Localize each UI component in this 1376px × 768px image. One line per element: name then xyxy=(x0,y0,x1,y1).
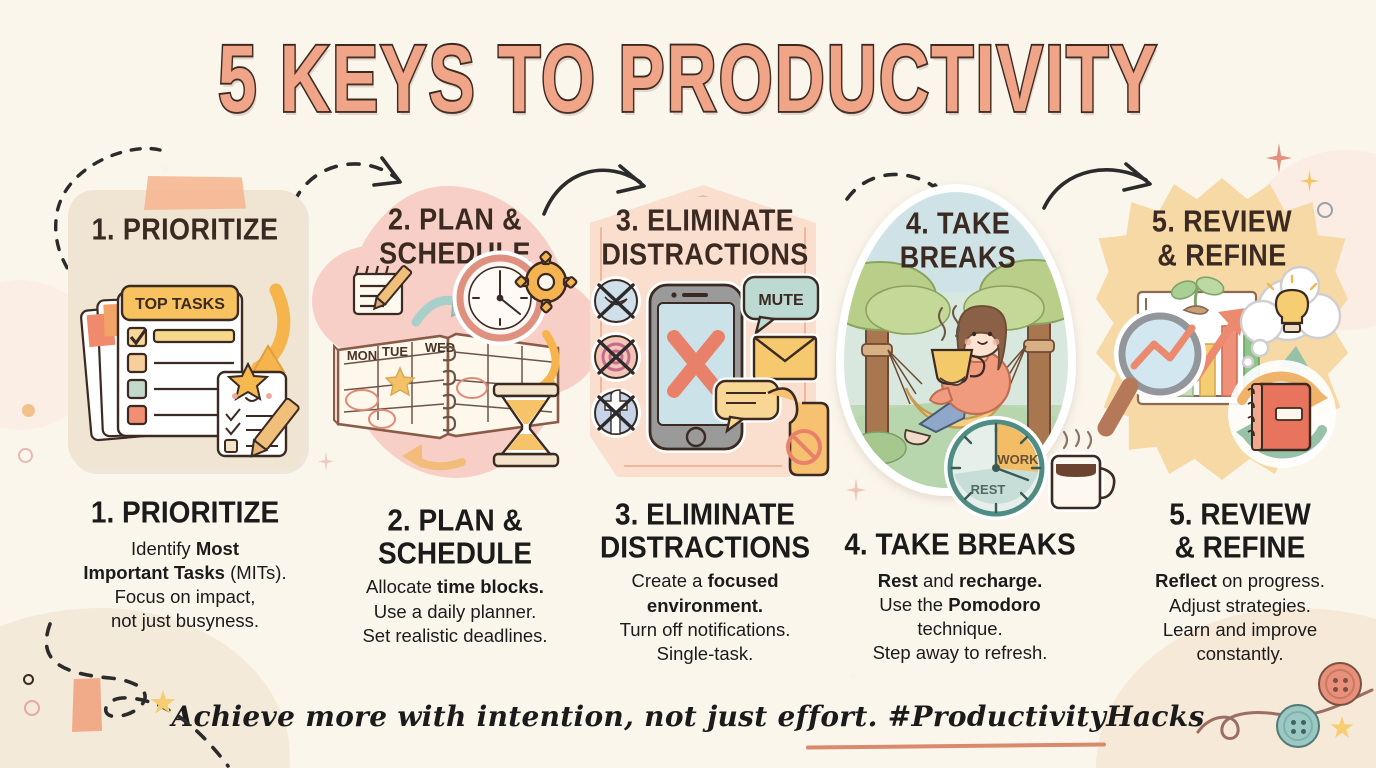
card-1-prioritize[interactable]: 1. PRIORITIZE TOP TASKS xyxy=(60,190,310,480)
card-2-illustration: MON TUE WED xyxy=(330,272,582,478)
card-5-caption-text: Reflect on progress.Adjust strategies.Le… xyxy=(1090,569,1376,665)
card-1-title-line-1: 1. PRIORITIZE xyxy=(60,212,310,246)
mute-label: MUTE xyxy=(758,292,804,309)
hashtag-underline xyxy=(806,742,1106,749)
card-1-banner-label: TOP TASKS xyxy=(135,296,225,313)
card-2-title-line-1: 2. PLAN & xyxy=(330,202,580,236)
card-1-title: 1. PRIORITIZE xyxy=(60,212,310,246)
dashed-loop-path-bottom-left xyxy=(14,620,284,768)
card-3-illustration: MUTE xyxy=(588,281,818,471)
card-4-title-line-1: 4. TAKE xyxy=(836,206,1080,240)
card-5-illustration xyxy=(1100,274,1350,474)
page-title: 5 KEYS TO PRODUCTIVITY xyxy=(218,24,1159,133)
washi-tape-card-1 xyxy=(144,176,246,210)
card-4-take-breaks[interactable]: ıl. 4. TAKE BREAKS WORK REST xyxy=(836,184,1080,504)
button-coral-bottom-right xyxy=(1318,662,1362,706)
page-title-container: 5 KEYS TO PRODUCTIVITY xyxy=(0,36,1376,121)
card-1-caption-heading: 1. PRIORITIZE xyxy=(35,496,335,529)
card-4-caption-heading: 4. TAKE BREAKS xyxy=(810,528,1110,561)
small-ring-left xyxy=(18,448,33,463)
card-1-caption: 1. PRIORITIZE Identify MostImportant Tas… xyxy=(35,496,335,633)
card-1-illustration: TOP TASKS xyxy=(70,268,310,468)
small-ring-bottom-left xyxy=(24,700,40,716)
button-teal-bottom-right xyxy=(1276,704,1320,748)
card-1-caption-text: Identify MostImportant Tasks (MITs).Focu… xyxy=(35,537,335,633)
small-dot-ring-bottom-left xyxy=(23,674,34,685)
card-5-title-line-1: 5. REVIEW xyxy=(1096,204,1348,238)
card-5-caption-heading: 5. REVIEW& REFINE xyxy=(1090,498,1376,565)
tape-strip-bottom-left xyxy=(72,678,102,732)
card-5-title: 5. REVIEW & REFINE xyxy=(1096,204,1348,273)
small-dot-left xyxy=(22,404,35,417)
footer-tagline: Achieve more with intention, not just ef… xyxy=(171,700,1204,733)
infographic-canvas: 5 KEYS TO PRODUCTIVITY 1. PRIORITIZE xyxy=(0,0,1376,768)
card-2-plan-schedule[interactable]: 2. PLAN & SCHEDULE xyxy=(330,186,580,486)
card-3-eliminate-distractions[interactable]: 3. ELIMINATE DISTRACTIONS xyxy=(590,185,820,485)
card-3-title-line-1: 3. ELIMINATE xyxy=(590,203,820,237)
pomodoro-label-rest: REST xyxy=(971,482,1006,497)
planner-label-tue: TUE xyxy=(382,344,408,359)
card-4-title: 4. TAKE BREAKS xyxy=(836,206,1080,275)
card-5-review-refine[interactable]: 5. REVIEW & REFINE xyxy=(1096,178,1356,488)
small-ring-top-right xyxy=(1317,202,1333,218)
card-5-title-line-2: & REFINE xyxy=(1096,238,1348,272)
pomodoro-label-work: WORK xyxy=(997,452,1039,467)
card-4-title-line-2: BREAKS xyxy=(836,240,1080,274)
card-5-caption: 5. REVIEW& REFINE Reflect on progress.Ad… xyxy=(1090,498,1376,666)
planner-label-mon: MON xyxy=(347,348,377,363)
card-3-title: 3. ELIMINATE DISTRACTIONS xyxy=(590,203,820,272)
card-3-title-line-2: DISTRACTIONS xyxy=(590,237,820,271)
card-4-caption: 4. TAKE BREAKS Rest and recharge.Use the… xyxy=(810,528,1110,665)
card-4-caption-text: Rest and recharge.Use the Pomodorotechni… xyxy=(810,569,1110,665)
